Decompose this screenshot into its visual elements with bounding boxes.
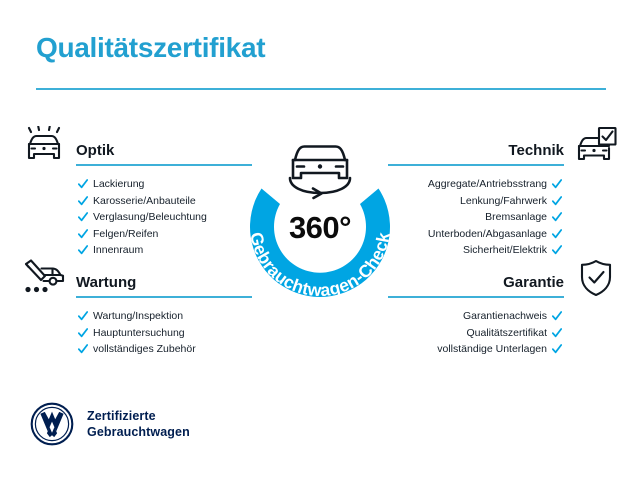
list-item-label: Unterboden/Abgasanlage xyxy=(428,226,547,243)
section-wartung: Wartung Wartung/Inspektion Hauptuntersuc… xyxy=(22,258,252,358)
car-front-shine-icon xyxy=(22,126,66,166)
list-item-label: vollständige Unterlagen xyxy=(437,341,547,358)
checklist: Wartung/Inspektion Hauptuntersuchung vol… xyxy=(22,308,252,358)
section-title: Optik xyxy=(76,141,252,164)
section-title: Technik xyxy=(388,141,564,164)
car-service-pen-icon xyxy=(22,258,66,298)
check-icon xyxy=(78,344,88,354)
check-icon xyxy=(552,245,562,255)
vw-brand-footer: Zertifizierte Gebrauchtwagen xyxy=(30,402,190,446)
check-icon xyxy=(78,245,88,255)
checklist: Lackierung Karosserie/Anbauteile Verglas… xyxy=(22,176,252,259)
section-header: Garantie xyxy=(388,258,618,298)
list-item-label: Qualitätszertifikat xyxy=(466,325,547,342)
vw-brand-line1: Zertifizierte xyxy=(87,408,190,424)
check-icon xyxy=(78,229,88,239)
car-rotate-360-icon xyxy=(290,147,350,199)
list-item: Garantienachweis xyxy=(388,308,562,325)
section-divider xyxy=(388,296,564,298)
checklist: Aggregate/Antriebsstrang Lenkung/Fahrwer… xyxy=(388,176,618,259)
section-header: Optik xyxy=(22,126,252,166)
section-header: Wartung xyxy=(22,258,252,298)
section-title-wrap: Optik xyxy=(76,141,252,166)
list-item: vollständige Unterlagen xyxy=(388,341,562,358)
list-item: Qualitätszertifikat xyxy=(388,325,562,342)
list-item: Sicherheit/Elektrik xyxy=(388,242,562,259)
list-item: Wartung/Inspektion xyxy=(78,308,252,325)
section-title-wrap: Garantie xyxy=(388,273,564,298)
vw-logo xyxy=(30,402,74,446)
list-item: Lenkung/Fahrwerk xyxy=(388,193,562,210)
section-divider xyxy=(76,296,252,298)
list-item: Verglasung/Beleuchtung xyxy=(78,209,252,226)
list-item-label: Lenkung/Fahrwerk xyxy=(460,193,547,210)
list-item: Innenraum xyxy=(78,242,252,259)
checklist: Garantienachweis Qualitätszertifikat vol… xyxy=(388,308,618,358)
list-item-label: Sicherheit/Elektrik xyxy=(463,242,547,259)
list-item: Karosserie/Anbauteile xyxy=(78,193,252,210)
page-title: Qualitätszertifikat xyxy=(36,32,265,64)
list-item: Unterboden/Abgasanlage xyxy=(388,226,562,243)
check-icon xyxy=(552,328,562,338)
list-item-label: Verglasung/Beleuchtung xyxy=(93,209,207,226)
list-item-label: Wartung/Inspektion xyxy=(93,308,183,325)
check-icon xyxy=(78,196,88,206)
section-technik: Technik Aggregate/Antriebsstrang Lenkung… xyxy=(388,126,618,259)
section-title-wrap: Wartung xyxy=(76,273,252,298)
check-icon xyxy=(78,328,88,338)
car-front-checkbox-icon xyxy=(574,126,618,166)
vw-brand-text: Zertifizierte Gebrauchtwagen xyxy=(87,408,190,440)
list-item-label: Aggregate/Antriebsstrang xyxy=(428,176,547,193)
list-item-label: Bremsanlage xyxy=(485,209,547,226)
check-icon xyxy=(78,212,88,222)
section-divider xyxy=(76,164,252,166)
certificate-page: Qualitätszertifikat Optik xyxy=(0,0,640,480)
list-item: Lackierung xyxy=(78,176,252,193)
check-icon xyxy=(552,344,562,354)
section-divider xyxy=(388,164,564,166)
section-header: Technik xyxy=(388,126,618,166)
list-item: vollständiges Zubehör xyxy=(78,341,252,358)
list-item: Hauptuntersuchung xyxy=(78,325,252,342)
badge-360-gebrauchtwagen-check: Gebrauchtwagen-Check 360° xyxy=(228,118,412,318)
list-item-label: Felgen/Reifen xyxy=(93,226,158,243)
list-item-label: Innenraum xyxy=(93,242,143,259)
list-item: Bremsanlage xyxy=(388,209,562,226)
list-item-label: Lackierung xyxy=(93,176,144,193)
section-title: Garantie xyxy=(388,273,564,296)
section-garantie: Garantie Garantienachweis Qualitätszerti… xyxy=(388,258,618,358)
section-title: Wartung xyxy=(76,273,252,296)
badge-degrees: 360° xyxy=(228,210,412,246)
shield-check-icon xyxy=(574,258,618,298)
check-icon xyxy=(552,229,562,239)
check-icon xyxy=(78,311,88,321)
list-item: Felgen/Reifen xyxy=(78,226,252,243)
list-item: Aggregate/Antriebsstrang xyxy=(388,176,562,193)
check-icon xyxy=(552,311,562,321)
check-icon xyxy=(552,196,562,206)
section-title-wrap: Technik xyxy=(388,141,564,166)
check-icon xyxy=(552,179,562,189)
check-icon xyxy=(78,179,88,189)
list-item-label: vollständiges Zubehör xyxy=(93,341,196,358)
section-optik: Optik Lackierung Karosserie/Anbauteile V… xyxy=(22,126,252,259)
check-icon xyxy=(552,212,562,222)
vw-brand-line2: Gebrauchtwagen xyxy=(87,424,190,440)
list-item-label: Garantienachweis xyxy=(463,308,547,325)
list-item-label: Hauptuntersuchung xyxy=(93,325,185,342)
list-item-label: Karosserie/Anbauteile xyxy=(93,193,196,210)
car-emblem-dot xyxy=(318,164,322,168)
header-divider xyxy=(36,88,606,90)
